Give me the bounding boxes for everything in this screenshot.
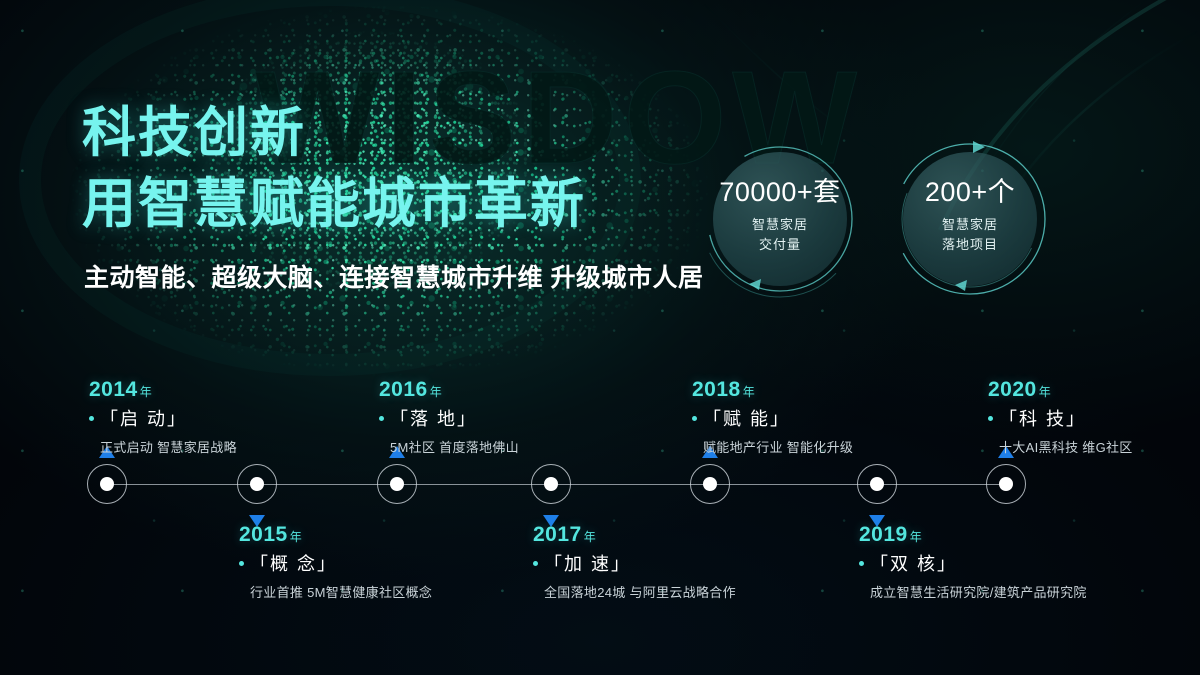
title-line-2: 用智慧赋能城市革新	[82, 169, 586, 240]
page-title: 科技创新 用智慧赋能城市革新	[82, 98, 586, 241]
stat-badge[interactable]: 70000+套 智慧家居 交付量	[699, 138, 861, 300]
title-line-1: 科技创新	[82, 103, 306, 163]
presentation-slide: WISDOW 科技创新 用智慧赋能城市革新 主动智能、超级大脑、连接智慧城市升维…	[0, 0, 1200, 675]
stat-badge[interactable]: 200+个 智慧家居 落地项目	[889, 138, 1051, 300]
stat-badge-ring	[699, 138, 861, 300]
page-subtitle: 主动智能、超级大脑、连接智慧城市升维 升级城市人居	[84, 258, 703, 294]
stat-badge-ring	[889, 138, 1051, 300]
